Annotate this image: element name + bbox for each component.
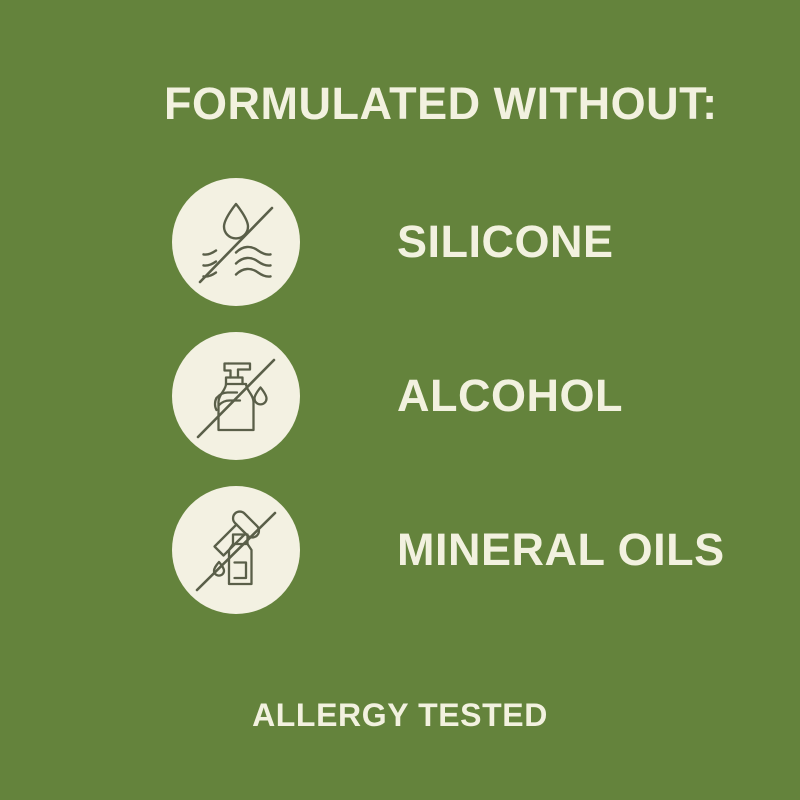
- list-item: MINERAL OILS: [0, 486, 800, 614]
- page-title: FORMULATED WITHOUT:: [164, 78, 718, 130]
- claim-list: SILICONE: [0, 178, 800, 614]
- list-item: SILICONE: [0, 178, 800, 306]
- no-mineral-oils-dropper-bottle-icon: [172, 486, 300, 614]
- no-alcohol-pump-bottle-icon: [172, 332, 300, 460]
- formulated-without-infographic: FORMULATED WITHOUT:: [0, 0, 800, 800]
- no-silicone-droplet-waves-icon: [172, 178, 300, 306]
- allergy-tested-note: ALLERGY TESTED: [0, 697, 800, 734]
- list-item: ALCOHOL: [0, 332, 800, 460]
- claim-label-silicone: SILICONE: [397, 178, 614, 306]
- no-mineral-oils-badge: [172, 486, 300, 614]
- no-alcohol-badge: [172, 332, 300, 460]
- no-silicone-badge: [172, 178, 300, 306]
- claim-label-mineral-oils: MINERAL OILS: [397, 486, 725, 614]
- claim-label-alcohol: ALCOHOL: [397, 332, 623, 460]
